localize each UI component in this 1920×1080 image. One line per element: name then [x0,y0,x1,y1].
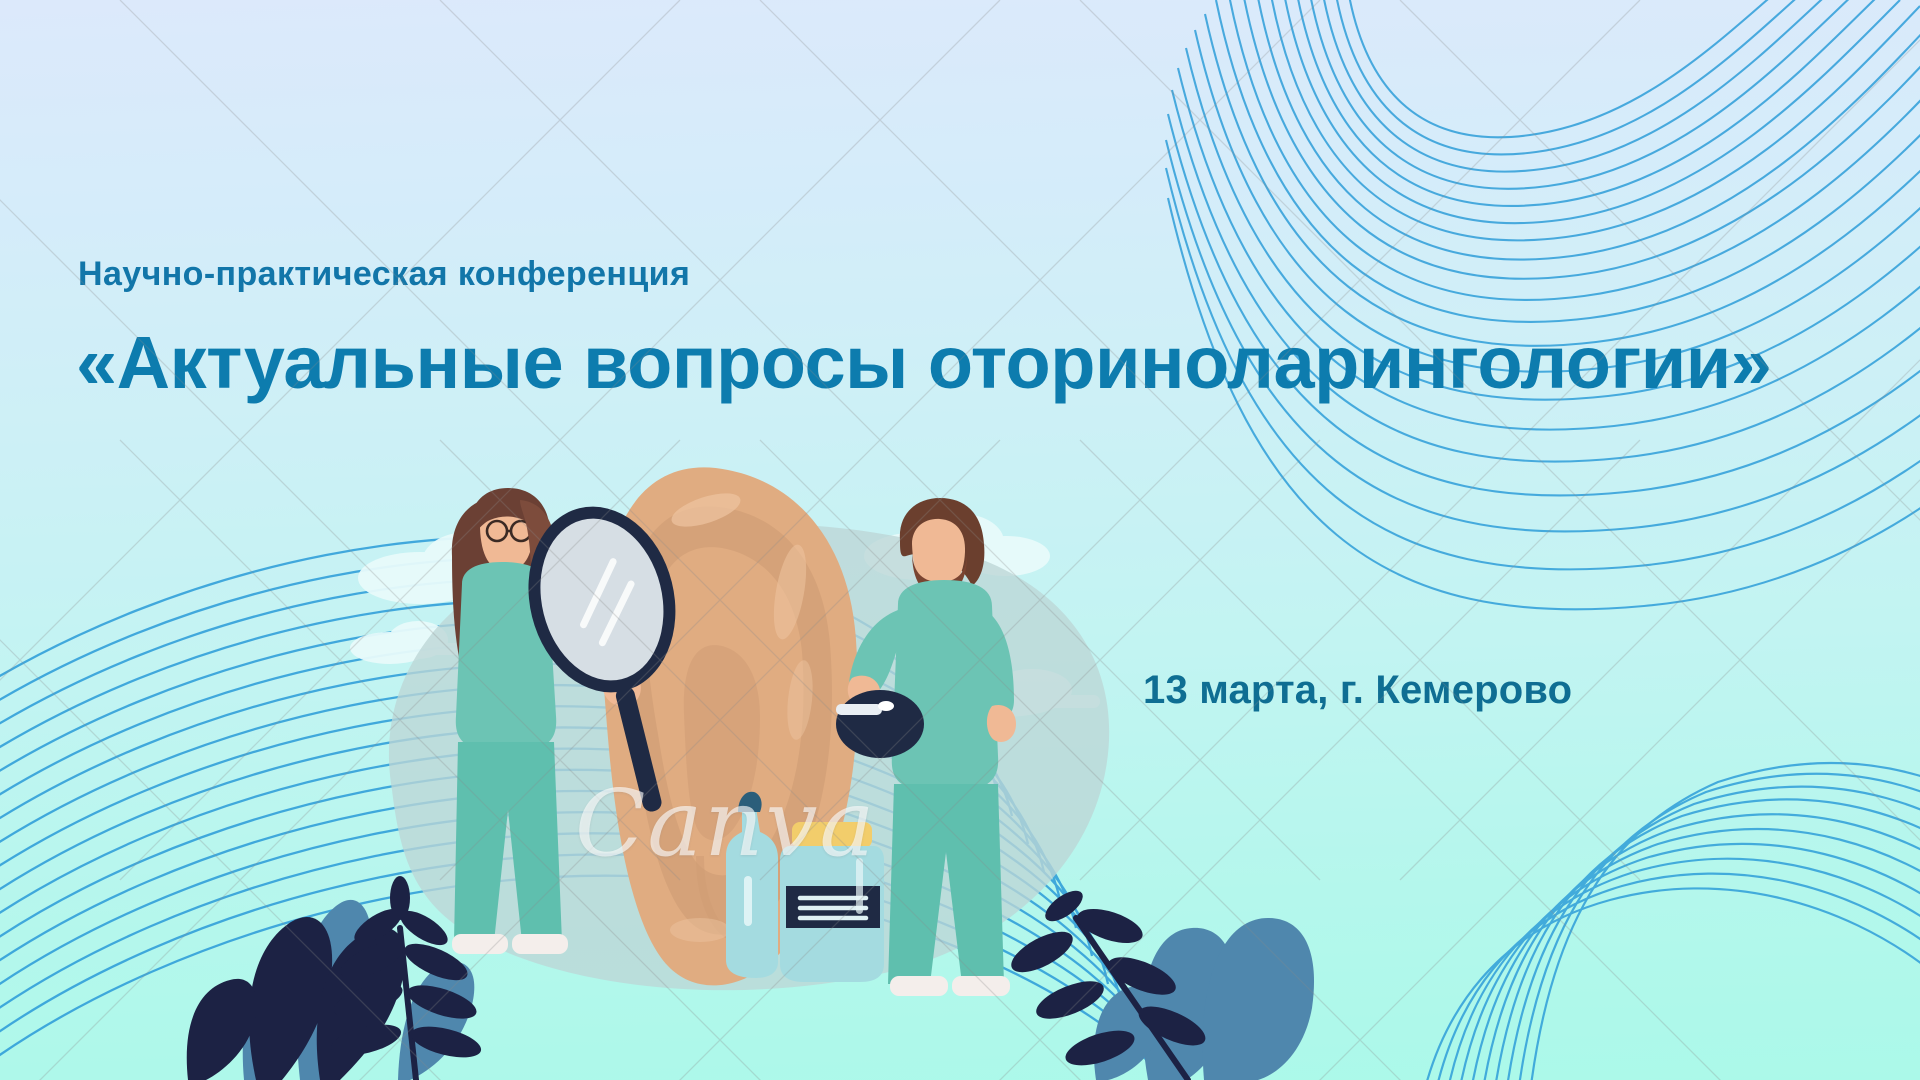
canva-watermark: Canva [575,770,876,877]
conference-poster: Научно-практическая конференция «Актуаль… [0,0,1920,1080]
watermark-diagonal-grid [0,0,1920,1080]
